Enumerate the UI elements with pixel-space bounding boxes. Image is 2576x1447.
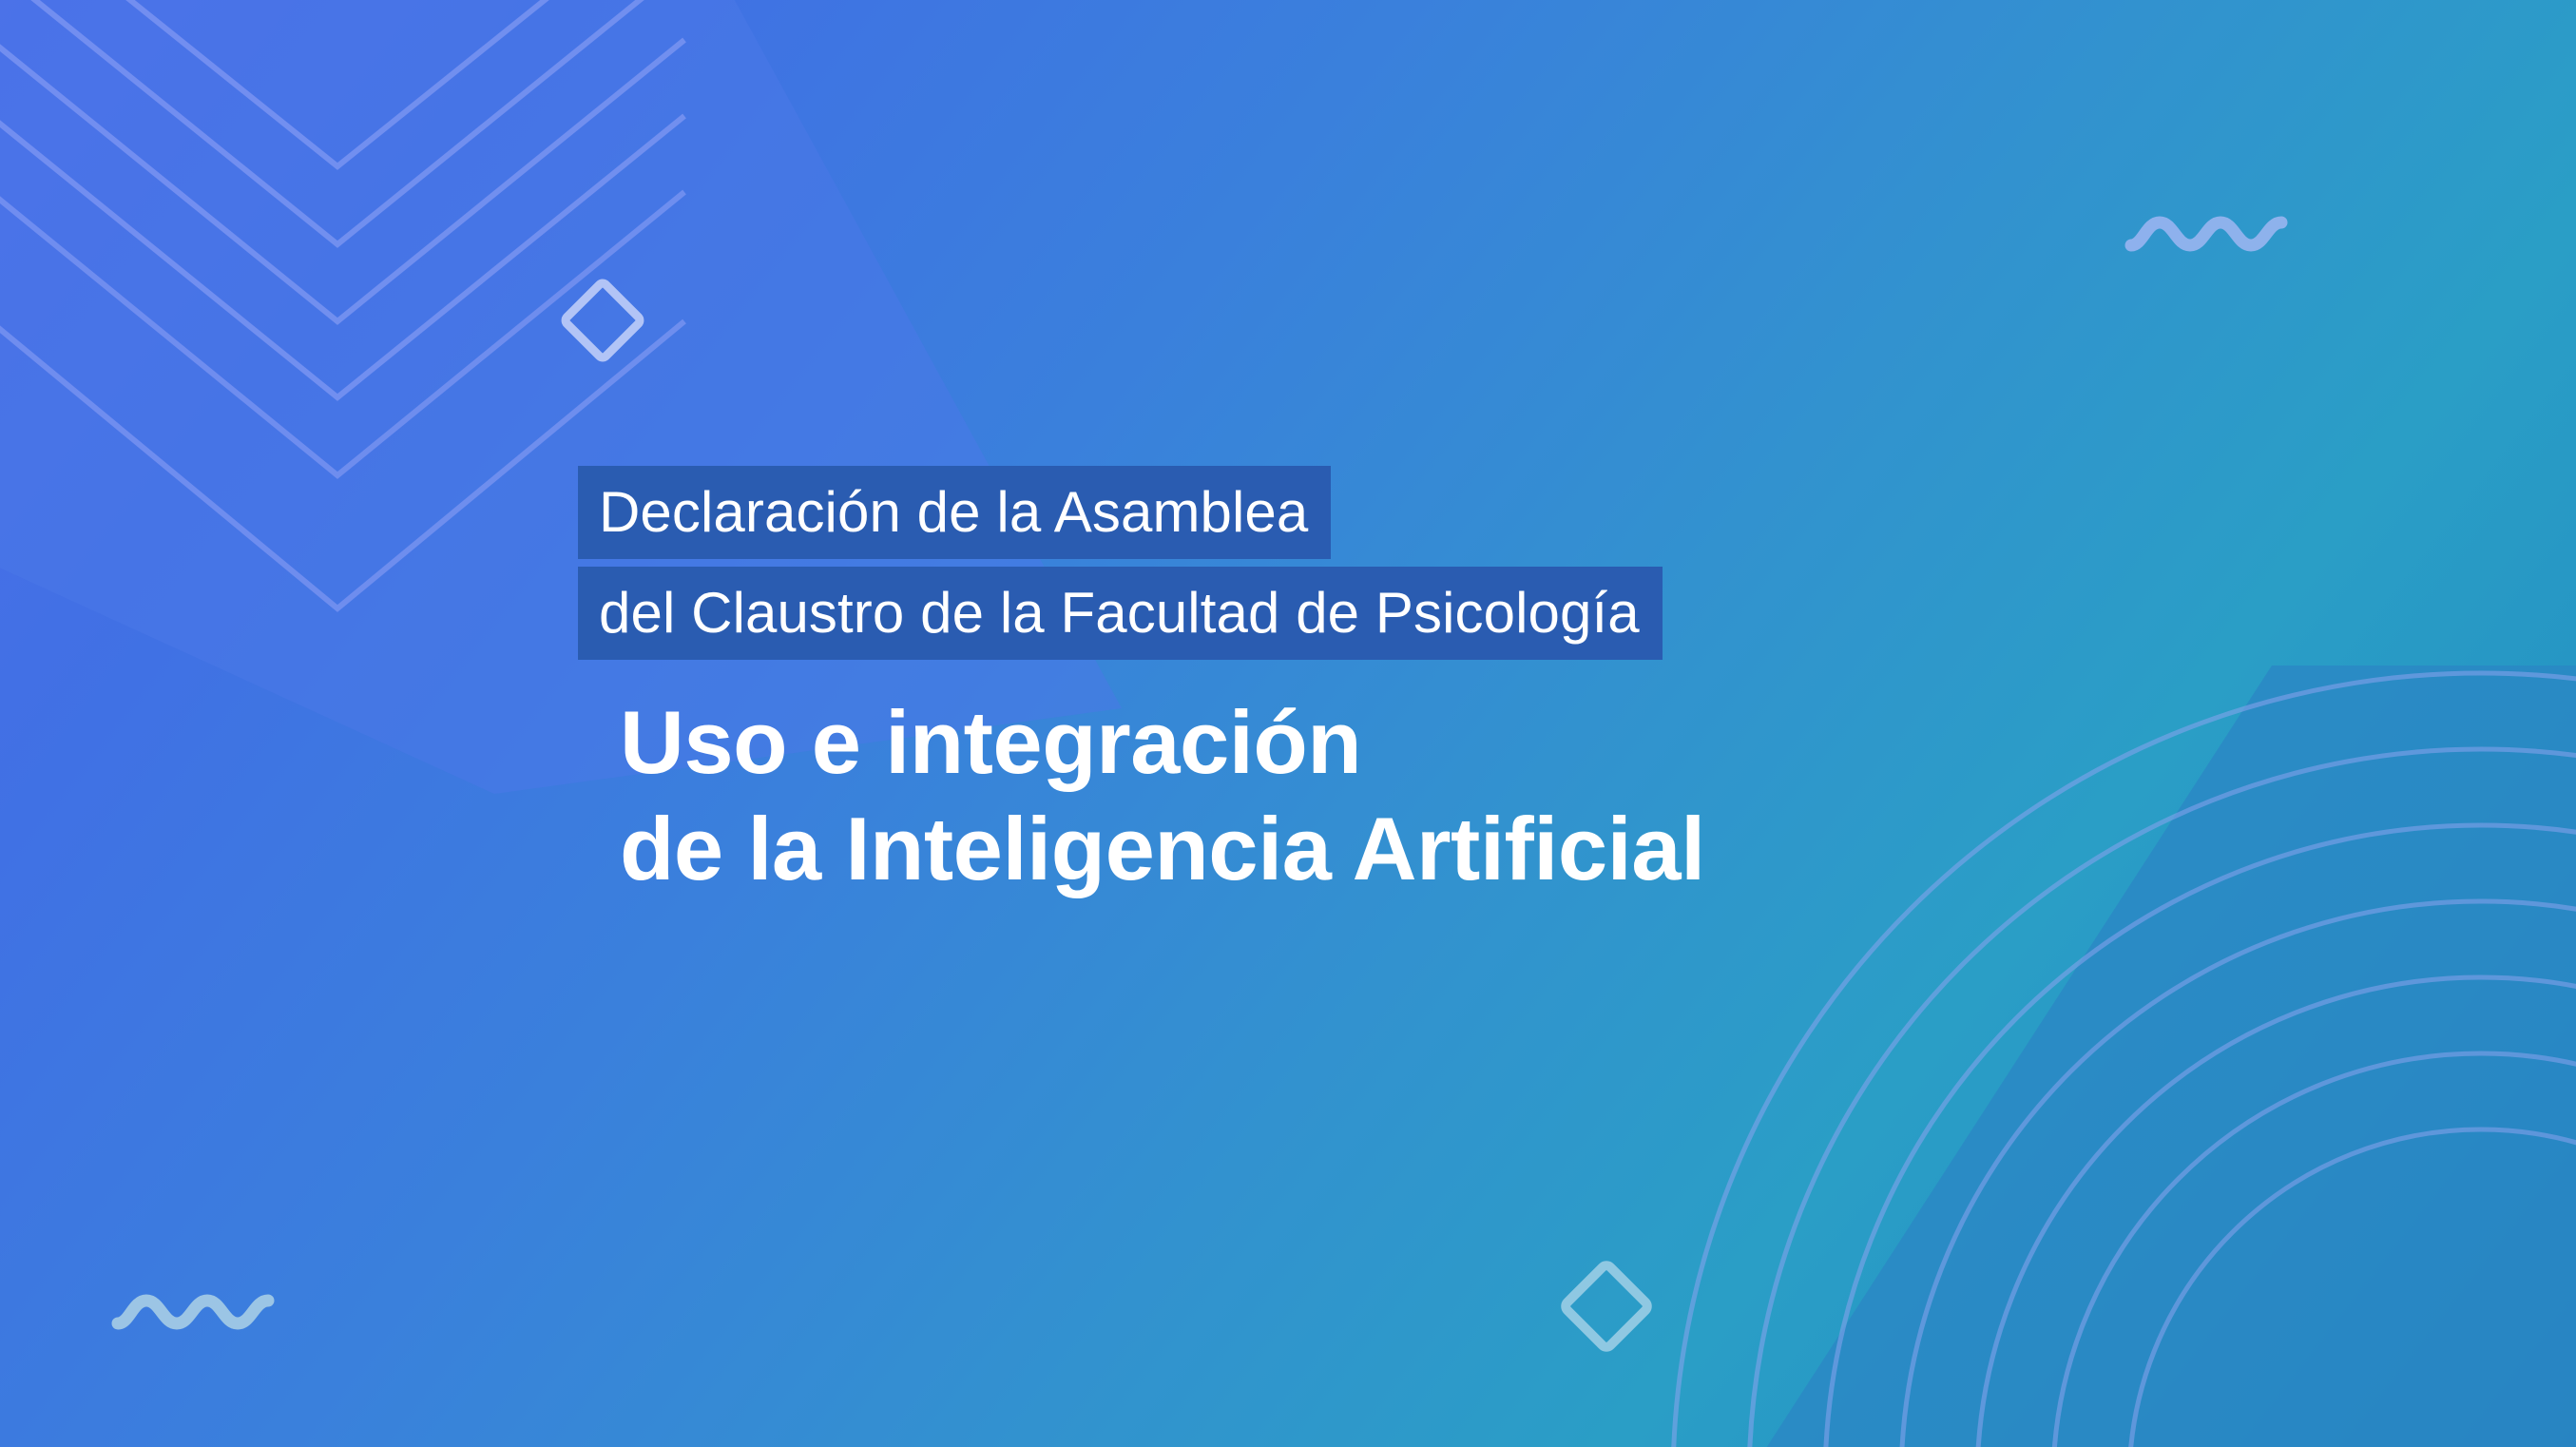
slide-title-line-1: Uso e integración [620,692,1361,792]
slide-title: Uso e integración de la Inteligencia Art… [578,698,2194,894]
slide-title-line-2: de la Inteligencia Artificial [620,804,2194,894]
diamond-bottom-center-icon [1564,1264,1650,1350]
eyebrow-line-2: del Claustro de la Facultad de Psicologí… [578,567,1663,660]
wave-top-right-icon [2131,222,2281,245]
chevron-lines [0,0,684,397]
slide-text-block: Declaración de la Asamblea del Claustro … [578,466,2194,894]
diamond-top-left-icon [564,281,642,359]
presentation-slide: Declaración de la Asamblea del Claustro … [0,0,2576,1447]
eyebrow-line-1: Declaración de la Asamblea [578,466,1331,559]
wave-bottom-left-icon [118,1301,268,1323]
